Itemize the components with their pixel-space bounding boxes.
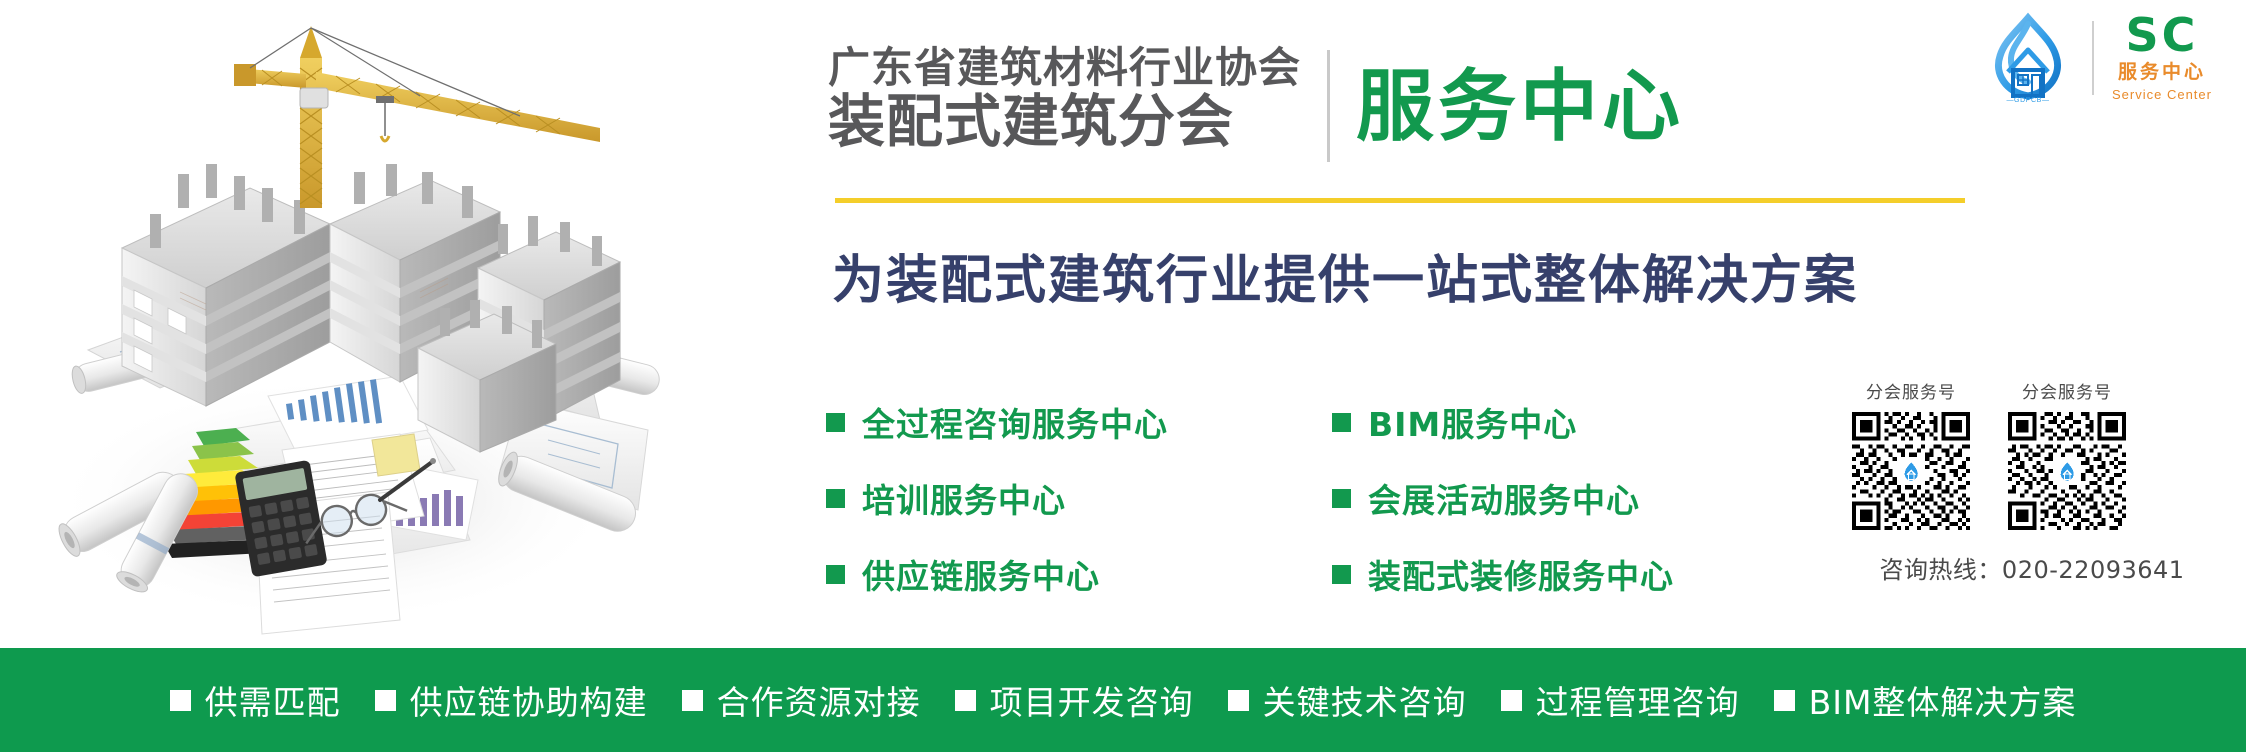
bottom-bar-label: BIM整体解决方案 <box>1809 676 2077 724</box>
banner-content: 广东省建筑材料行业协会 装配式建筑分会 服务中心 为装配式建筑行业提供一站式整体… <box>660 0 2246 648</box>
bullet-square-icon <box>1332 565 1351 584</box>
bullet-square-icon <box>826 565 845 584</box>
service-item[interactable]: 会展活动服务中心 <box>1332 474 1674 522</box>
bullet-square-icon <box>826 413 845 432</box>
bullet-square-icon <box>170 690 191 711</box>
bottom-bar-item[interactable]: 关键技术咨询 <box>1228 676 1467 724</box>
promotional-banner: 广东省建筑材料行业协会 装配式建筑分会 服务中心 为装配式建筑行业提供一站式整体… <box>0 0 2246 752</box>
bottom-bar-item[interactable]: BIM整体解决方案 <box>1774 676 2077 724</box>
org-name-line2: 装配式建筑分会 <box>828 91 1301 154</box>
logo-chinese-text: 服务中心 <box>2118 58 2206 87</box>
qr-cell[interactable]: 分会服务号 <box>2008 378 2126 530</box>
service-item-label: 供应链服务中心 <box>862 550 1100 598</box>
service-item[interactable]: 装配式装修服务中心 <box>1332 550 1674 598</box>
logo-divider <box>2092 21 2094 95</box>
sc-logo[interactable]: —GDPCB— SC 服务中心 Service Center <box>1982 12 2212 104</box>
blue-flame-house-icon: —GDPCB— <box>1982 12 2074 104</box>
bullet-square-icon <box>1332 489 1351 508</box>
bottom-bar-label: 合作资源对接 <box>717 676 921 724</box>
bullet-square-icon <box>682 690 703 711</box>
qr-cell[interactable]: 分会服务号 <box>1852 378 1970 530</box>
service-center-list: 全过程咨询服务中心 培训服务中心 供应链服务中心 BIM服务中心 <box>826 398 1674 598</box>
bottom-bar-label: 供需匹配 <box>205 676 341 724</box>
title-row: 广东省建筑材料行业协会 装配式建筑分会 服务中心 <box>828 44 1684 162</box>
logo-english-text: Service Center <box>2112 87 2212 104</box>
bullet-square-icon <box>955 690 976 711</box>
title-divider <box>1327 50 1330 162</box>
bottom-bar-item[interactable]: 项目开发咨询 <box>955 676 1194 724</box>
qr-contact-block: 分会服务号 <box>1852 378 2212 585</box>
qr-caption: 分会服务号 <box>1866 378 1956 403</box>
bullet-square-icon <box>1774 690 1795 711</box>
service-item[interactable]: 培训服务中心 <box>826 474 1168 522</box>
hotline-text: 咨询热线：020-22093641 <box>1852 550 2212 585</box>
org-name-line1: 广东省建筑材料行业协会 <box>828 44 1301 91</box>
service-item[interactable]: BIM服务中心 <box>1332 398 1674 446</box>
bullet-square-icon <box>1332 413 1351 432</box>
bottom-bar-label: 关键技术咨询 <box>1263 676 1467 724</box>
bottom-bar-item[interactable]: 合作资源对接 <box>682 676 921 724</box>
service-center-heading: 服务中心 <box>1356 50 1684 155</box>
service-item-label: BIM服务中心 <box>1368 398 1577 446</box>
bottom-bar-item[interactable]: 供需匹配 <box>170 676 341 724</box>
construction-building-illustration <box>0 0 660 660</box>
service-item[interactable]: 供应链服务中心 <box>826 550 1168 598</box>
logo-sc-text: SC <box>2126 12 2199 58</box>
bottom-bar-item[interactable]: 供应链协助构建 <box>375 676 648 724</box>
service-item-label: 装配式装修服务中心 <box>1368 550 1674 598</box>
tower-crane-icon <box>234 26 600 208</box>
qr-code-icon[interactable] <box>1852 412 1970 530</box>
service-column-left: 全过程咨询服务中心 培训服务中心 供应链服务中心 <box>826 398 1168 598</box>
service-item-label: 全过程咨询服务中心 <box>862 398 1168 446</box>
qr-code-icon[interactable] <box>2008 412 2126 530</box>
bullet-square-icon <box>1228 690 1249 711</box>
bullet-square-icon <box>375 690 396 711</box>
bottom-bar-label: 过程管理咨询 <box>1536 676 1740 724</box>
logo-wordmark: SC 服务中心 Service Center <box>2112 12 2212 103</box>
qr-row: 分会服务号 <box>1852 378 2212 530</box>
bullet-square-icon <box>1501 690 1522 711</box>
tagline: 为装配式建筑行业提供一站式整体解决方案 <box>832 238 1858 313</box>
bullet-square-icon <box>826 489 845 508</box>
organization-names: 广东省建筑材料行业协会 装配式建筑分会 <box>828 44 1301 154</box>
service-item-label: 培训服务中心 <box>862 474 1066 522</box>
qr-caption: 分会服务号 <box>2022 378 2112 403</box>
svg-text:—GDPCB—: —GDPCB— <box>2006 97 2049 104</box>
bottom-services-bar: 供需匹配 供应链协助构建 合作资源对接 项目开发咨询 关键技术咨询 过程管理咨询… <box>0 648 2246 752</box>
bottom-bar-item[interactable]: 过程管理咨询 <box>1501 676 1740 724</box>
yellow-divider-rule <box>835 198 1965 203</box>
bottom-bar-label: 项目开发咨询 <box>990 676 1194 724</box>
service-item[interactable]: 全过程咨询服务中心 <box>826 398 1168 446</box>
service-item-label: 会展活动服务中心 <box>1368 474 1640 522</box>
bottom-bar-label: 供应链协助构建 <box>410 676 648 724</box>
service-column-right: BIM服务中心 会展活动服务中心 装配式装修服务中心 <box>1332 398 1674 598</box>
